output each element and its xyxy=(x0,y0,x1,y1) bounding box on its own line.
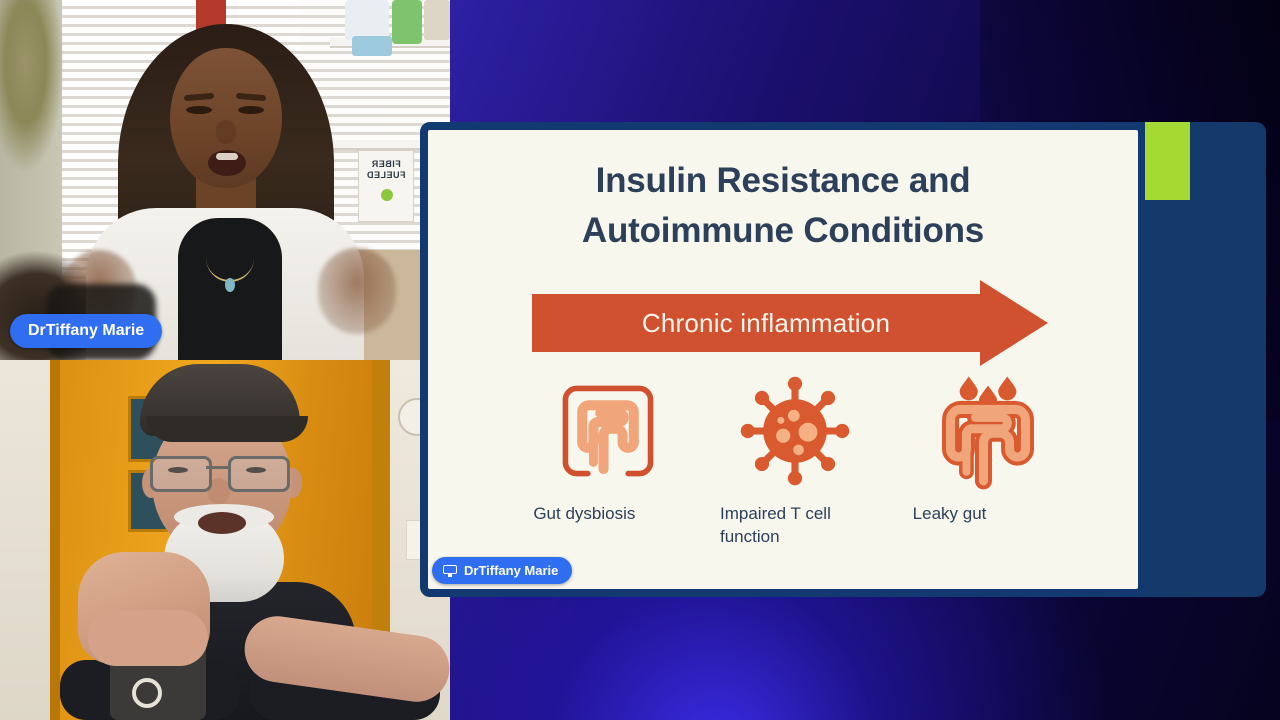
person2-fingers xyxy=(88,610,208,666)
person-mouth xyxy=(208,150,246,176)
arrow-label: Chronic inflammation xyxy=(532,294,1000,352)
slide-item-impaired-t-cell: Impaired T cell function xyxy=(707,372,884,548)
slide-items-row: Gut dysbiosis xyxy=(520,372,1076,548)
slide-title-line1: Insulin Resistance and xyxy=(596,161,971,200)
product-box-c xyxy=(424,0,450,40)
slide-item-leaky-gut: Leaky gut xyxy=(899,372,1076,548)
product-box-d xyxy=(352,36,392,56)
person-pendant xyxy=(225,278,235,292)
person2-glasses-left-lens xyxy=(150,456,212,492)
slide-title: Insulin Resistance and Autoimmune Condit… xyxy=(428,156,1138,256)
video-call-stage: FIBERFUELED DrTiffany Marie xyxy=(0,0,1280,720)
video-tile-dr-tiffany[interactable]: FIBERFUELED DrTiffany Marie xyxy=(0,0,450,360)
person2-glasses-bridge xyxy=(206,466,228,469)
shared-slide[interactable]: Insulin Resistance and Autoimmune Condit… xyxy=(420,122,1146,597)
video-frame-bottom xyxy=(0,360,450,720)
person-hand-right xyxy=(318,248,396,334)
book-title-text: FIBERFUELED xyxy=(359,159,413,181)
person-nose xyxy=(216,120,236,144)
virus-cell-icon-svg xyxy=(736,372,854,490)
video-frame-top: FIBERFUELED xyxy=(0,0,450,360)
intestines-framed-icon-svg xyxy=(552,375,664,487)
door-frame-left xyxy=(50,360,60,720)
screenshare-owner-label: DrTiffany Marie xyxy=(464,563,558,578)
slide-item-label: Impaired T cell function xyxy=(720,502,870,548)
video-tile-tony[interactable]: Tony xyxy=(0,360,450,720)
name-badge-label: DrTiffany Marie xyxy=(28,322,144,340)
virus-cell-icon xyxy=(736,372,854,490)
green-accent-block xyxy=(1145,122,1190,200)
person2-mouth xyxy=(198,512,246,534)
name-badge-dr-tiffany: DrTiffany Marie xyxy=(10,314,162,348)
left-wall-bottom xyxy=(0,360,50,720)
book-fiber-fueled: FIBERFUELED xyxy=(358,150,414,222)
chronic-inflammation-arrow: Chronic inflammation xyxy=(532,280,1048,366)
product-box-b xyxy=(392,0,422,44)
product-box-a xyxy=(345,0,389,40)
person2-glasses-right-lens xyxy=(228,456,290,492)
slide-item-label: Gut dysbiosis xyxy=(533,502,683,525)
slide-item-label: Leaky gut xyxy=(913,502,1063,525)
slide-item-gut-dysbiosis: Gut dysbiosis xyxy=(520,372,697,548)
intestines-dripping-icon-svg xyxy=(930,372,1046,490)
intestines-framed-icon xyxy=(552,372,664,490)
person-eye-right xyxy=(238,106,264,114)
person2-ring xyxy=(132,678,162,708)
screenshare-owner-badge: DrTiffany Marie xyxy=(432,557,572,584)
person-eye-left xyxy=(186,106,212,114)
plant-decor xyxy=(0,0,64,210)
slide-title-line2: Autoimmune Conditions xyxy=(582,211,984,250)
person2-cap-brim xyxy=(146,416,308,442)
monitor-icon xyxy=(443,565,457,577)
intestines-dripping-icon xyxy=(930,372,1046,490)
book-logo-dot xyxy=(381,189,393,201)
